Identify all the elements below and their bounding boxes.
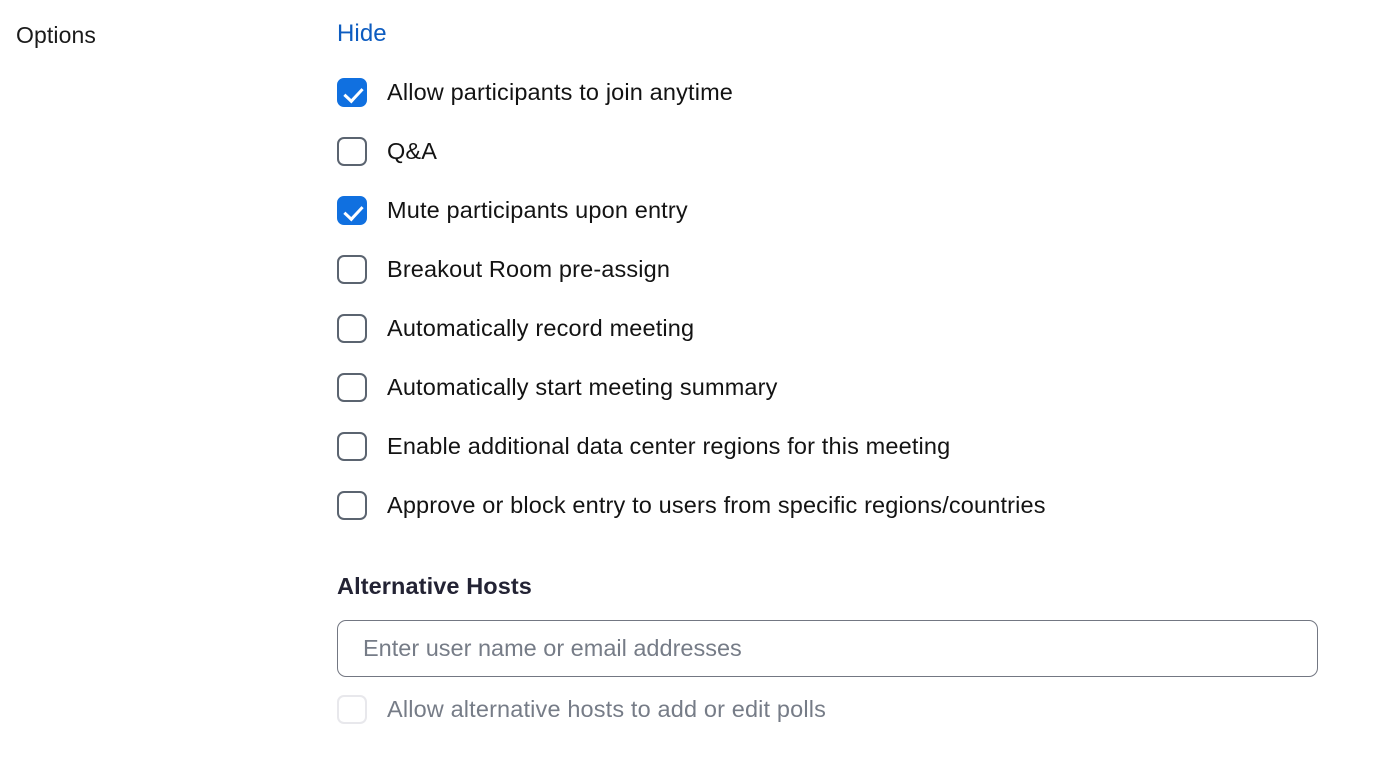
- alternative-hosts-title: Alternative Hosts: [337, 572, 1357, 600]
- option-label: Breakout Room pre-assign: [387, 254, 670, 284]
- checkbox-automatically-record-meeting[interactable]: [337, 314, 367, 343]
- option-row-enable-additional-data-center-regions[interactable]: Enable additional data center regions fo…: [337, 431, 1357, 461]
- option-label: Q&A: [387, 136, 437, 166]
- option-row-automatically-start-meeting-summary[interactable]: Automatically start meeting summary: [337, 372, 1357, 402]
- checkbox-allow-participants-join-anytime[interactable]: [337, 78, 367, 107]
- option-label: Allow alternative hosts to add or edit p…: [387, 694, 826, 724]
- checkbox-approve-or-block-entry-by-region[interactable]: [337, 491, 367, 520]
- option-row-qa[interactable]: Q&A: [337, 136, 1357, 166]
- option-label: Automatically start meeting summary: [387, 372, 778, 402]
- checkbox-automatically-start-meeting-summary[interactable]: [337, 373, 367, 402]
- checkbox-enable-additional-data-center-regions[interactable]: [337, 432, 367, 461]
- option-label: Approve or block entry to users from spe…: [387, 490, 1046, 520]
- options-content: Hide Allow participants to join anytime …: [337, 18, 1357, 724]
- option-label: Mute participants upon entry: [387, 195, 688, 225]
- alternative-hosts-section: Alternative Hosts Allow alternative host…: [337, 572, 1357, 724]
- option-row-mute-participants-upon-entry[interactable]: Mute participants upon entry: [337, 195, 1357, 225]
- option-row-breakout-room-pre-assign[interactable]: Breakout Room pre-assign: [337, 254, 1357, 284]
- option-row-allow-alt-hosts-edit-polls: Allow alternative hosts to add or edit p…: [337, 694, 1357, 724]
- option-row-approve-or-block-entry-by-region[interactable]: Approve or block entry to users from spe…: [337, 490, 1357, 520]
- option-label: Allow participants to join anytime: [387, 77, 733, 107]
- checkbox-breakout-room-pre-assign[interactable]: [337, 255, 367, 284]
- option-label: Automatically record meeting: [387, 313, 694, 343]
- alternative-hosts-input[interactable]: [337, 620, 1318, 677]
- checkbox-mute-participants-upon-entry[interactable]: [337, 196, 367, 225]
- options-checkbox-list: Allow participants to join anytime Q&A M…: [337, 77, 1357, 520]
- hide-toggle-link[interactable]: Hide: [337, 18, 387, 50]
- section-label-options: Options: [16, 20, 96, 50]
- checkbox-qa[interactable]: [337, 137, 367, 166]
- options-panel: Options Hide Allow participants to join …: [0, 0, 1376, 766]
- option-row-allow-participants-join-anytime[interactable]: Allow participants to join anytime: [337, 77, 1357, 107]
- option-row-automatically-record-meeting[interactable]: Automatically record meeting: [337, 313, 1357, 343]
- option-label: Enable additional data center regions fo…: [387, 431, 950, 461]
- checkbox-allow-alt-hosts-edit-polls: [337, 695, 367, 724]
